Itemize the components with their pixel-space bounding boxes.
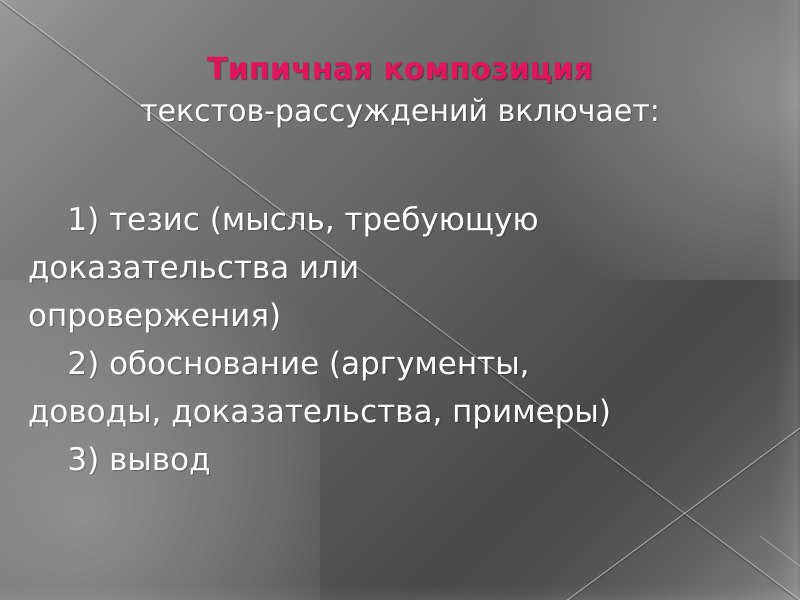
body-line-4: 2) обоснование (аргументы, bbox=[28, 340, 780, 388]
body-line-6: 3) вывод bbox=[28, 436, 780, 484]
body-line-2: доказательства или bbox=[28, 244, 780, 292]
slide-title: Типичная композиция текстов-рассуждений … bbox=[0, 50, 800, 134]
slide-canvas: Типичная композиция текстов-рассуждений … bbox=[0, 0, 800, 600]
slide-body: 1) тезис (мысль, требующую доказательств… bbox=[28, 196, 780, 484]
body-line-1: 1) тезис (мысль, требующую bbox=[28, 196, 780, 244]
title-heading-subline: текстов-рассуждений включает: bbox=[0, 90, 800, 134]
body-line-3: опровержения) bbox=[28, 292, 780, 340]
title-heading-accent: Типичная композиция bbox=[0, 50, 800, 90]
slide-content: Типичная композиция текстов-рассуждений … bbox=[0, 0, 800, 600]
body-line-5: доводы, доказательства, примеры) bbox=[28, 388, 780, 436]
